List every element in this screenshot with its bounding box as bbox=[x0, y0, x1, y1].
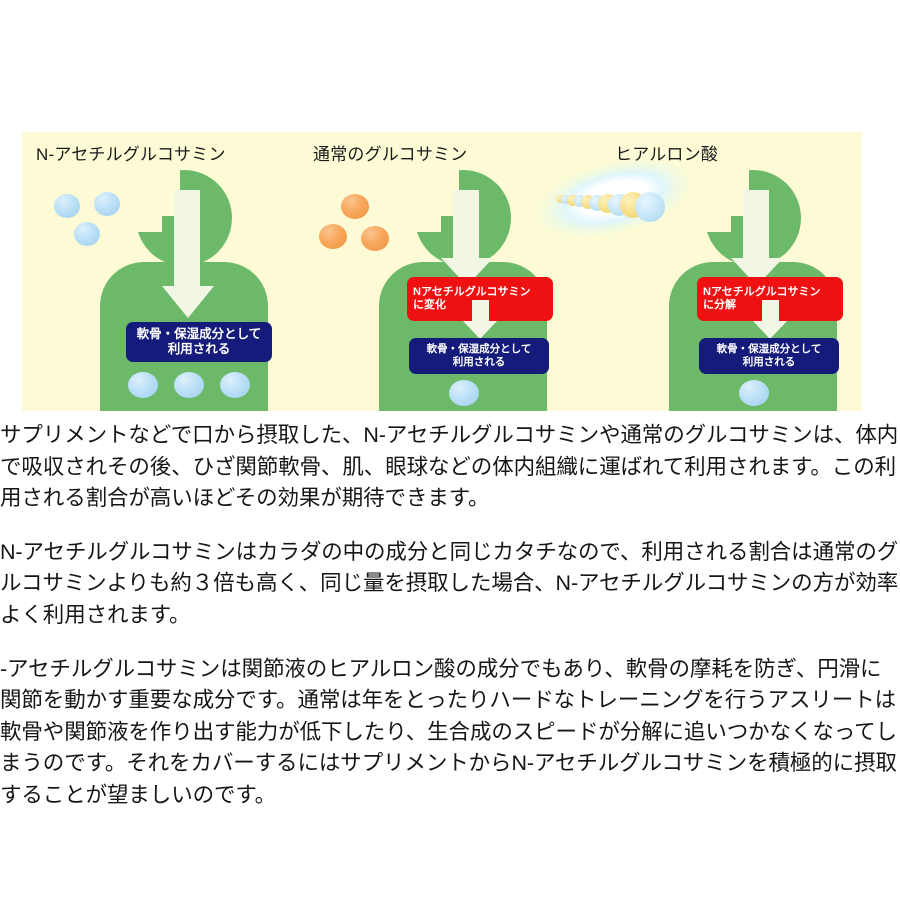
result-box-3-line2: 利用される bbox=[699, 356, 839, 369]
result-box-1-line2: 利用される bbox=[126, 342, 272, 357]
hyaluronan-chain bbox=[534, 162, 694, 234]
result-box-3: 軟骨・保湿成分として 利用される bbox=[699, 338, 839, 374]
panel-n-acetylglucosamine: N-アセチルグルコサミン 軟骨・保湿成分として 利用される bbox=[22, 132, 297, 411]
result-box-3-line1: 軟骨・保湿成分として bbox=[699, 343, 839, 356]
conversion-box-2-line1: Nアセチルグルコサミン bbox=[413, 286, 531, 299]
molecule-sphere-orange bbox=[361, 226, 389, 251]
paragraph-2: N-アセチルグルコサミンはカラダの中の成分と同じカタチなので、利用される割合は通… bbox=[0, 537, 900, 632]
mouth-notch-2b bbox=[415, 216, 441, 232]
molecule-sphere-orange bbox=[341, 194, 369, 219]
intake-arrow-1 bbox=[162, 190, 214, 315]
mouth-notch-1b bbox=[136, 216, 162, 232]
conversion-box-2-line2: に変化 bbox=[413, 299, 446, 312]
molecule-sphere-orange bbox=[319, 224, 347, 249]
intake-arrow-2 bbox=[441, 190, 493, 290]
hyaluronan-bead bbox=[635, 192, 665, 222]
conversion-arrow-3 bbox=[753, 300, 789, 340]
molecule-sphere-blue bbox=[94, 192, 120, 216]
molecule-sphere-blue bbox=[74, 222, 100, 246]
mouth-notch-3b bbox=[705, 216, 731, 232]
paragraph-3: -アセチルグルコサミンは関節液のヒアルロン酸の成分でもあり、軟骨の摩耗を防ぎ、円… bbox=[0, 654, 900, 812]
utilised-sphere bbox=[449, 380, 479, 406]
result-box-1: 軟骨・保湿成分として 利用される bbox=[126, 322, 272, 362]
utilised-sphere bbox=[739, 380, 769, 406]
panel-hyaluronic-acid: ヒアルロン酸 Nアセチルグルコサミン に分解 軟骨・保湿成分として 利用される bbox=[567, 132, 862, 411]
article-body: サプリメントなどで口から摂取した、N-アセチルグルコサミンや通常のグルコサミンは… bbox=[0, 420, 900, 812]
panel-title-2: 通常のグルコサミン bbox=[313, 140, 467, 165]
molecule-sphere-blue bbox=[54, 194, 80, 218]
utilised-sphere bbox=[174, 372, 204, 398]
page-root: N-アセチルグルコサミン 軟骨・保湿成分として 利用される bbox=[0, 0, 900, 900]
conversion-arrow-2 bbox=[463, 300, 499, 340]
utilised-sphere bbox=[220, 372, 250, 398]
diagram-panel: N-アセチルグルコサミン 軟骨・保湿成分として 利用される bbox=[22, 132, 862, 411]
result-box-1-line1: 軟骨・保湿成分として bbox=[126, 327, 272, 342]
conversion-box-3-line2: に分解 bbox=[703, 299, 736, 312]
panel-ordinary-glucosamine: 通常のグルコサミン Nアセチルグルコサミン に変化 軟骨・保湿成分として bbox=[297, 132, 567, 411]
conversion-box-3-line1: Nアセチルグルコサミン bbox=[703, 286, 821, 299]
utilised-sphere bbox=[128, 372, 158, 398]
result-box-2-line1: 軟骨・保湿成分として bbox=[409, 343, 549, 356]
result-box-2-line2: 利用される bbox=[409, 356, 549, 369]
panel-title-1: N-アセチルグルコサミン bbox=[36, 140, 226, 165]
intake-arrow-3 bbox=[731, 190, 783, 290]
result-box-2: 軟骨・保湿成分として 利用される bbox=[409, 338, 549, 374]
paragraph-1: サプリメントなどで口から摂取した、N-アセチルグルコサミンや通常のグルコサミンは… bbox=[0, 420, 900, 515]
